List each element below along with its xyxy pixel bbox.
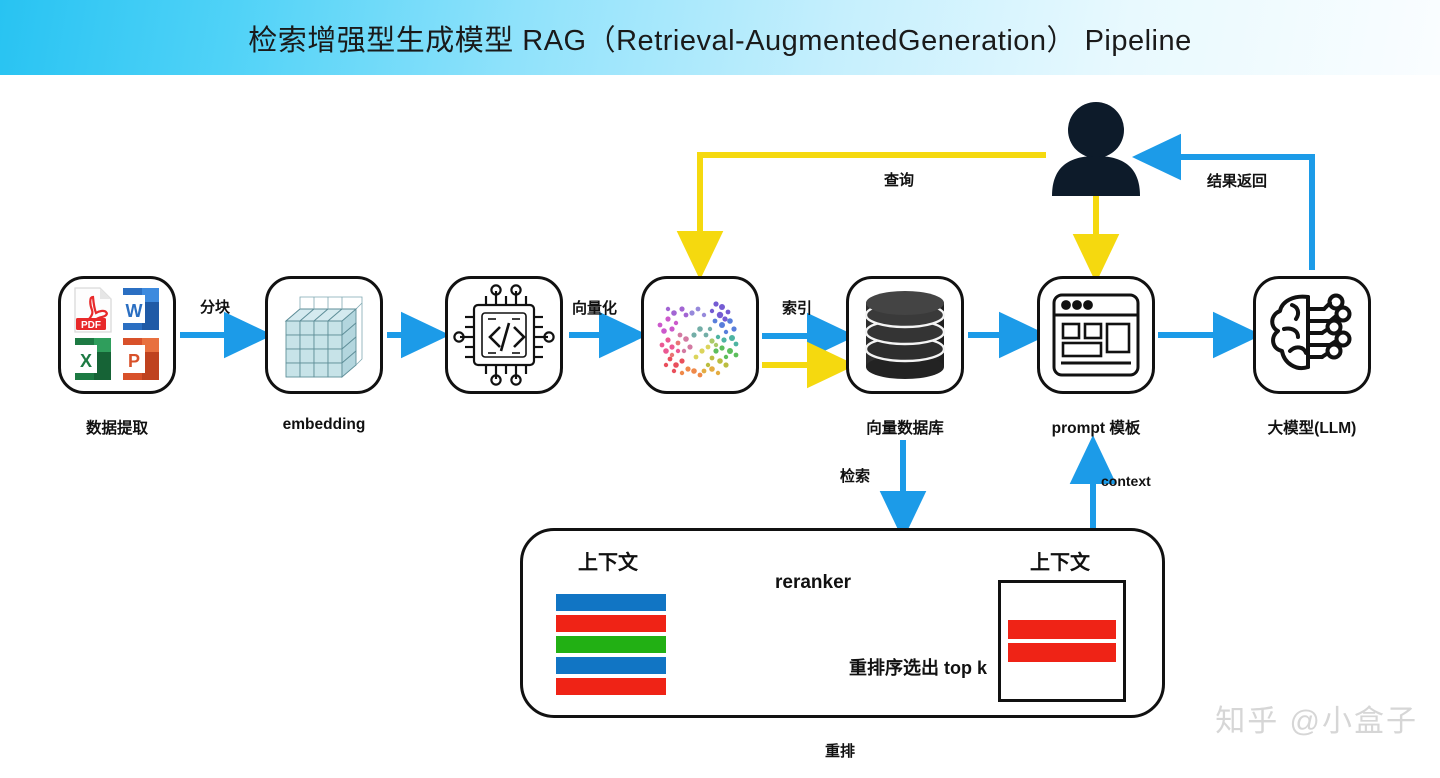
node-label-llm: 大模型(LLM) — [1216, 416, 1408, 438]
node-label-vector-db: 向量数据库 — [846, 416, 964, 438]
edge-label-chunking: 分块 — [200, 296, 230, 317]
node-embedding-space[interactable] — [641, 276, 759, 394]
database-cylinder-icon — [858, 285, 952, 385]
rerank-input-bars — [556, 594, 666, 699]
context-bar — [556, 636, 666, 653]
rerank-input-title: 上下文 — [578, 546, 638, 575]
powerpoint-file-icon: P — [119, 337, 163, 383]
cpu-chip-code-icon — [452, 283, 556, 387]
node-label-prompt-template: prompt 模板 — [1000, 416, 1192, 438]
edge-label-vectorizing: 向量化 — [572, 297, 617, 318]
node-vectorize[interactable] — [445, 276, 563, 394]
context-bar — [556, 678, 666, 695]
scatter-embedding-icon — [650, 285, 750, 385]
edge-label-indexing: 索引 — [782, 297, 812, 318]
node-llm[interactable] — [1253, 276, 1371, 394]
node-data-extraction[interactable]: PDF W X — [58, 276, 176, 394]
rerank-output-box — [998, 580, 1126, 702]
node-label-data-extraction: 数据提取 — [58, 416, 176, 438]
node-prompt-template[interactable] — [1037, 276, 1155, 394]
rerank-transform-label: 重排序选出 top k — [849, 654, 987, 680]
node-label-embedding: embedding — [265, 416, 383, 434]
context-bar — [556, 657, 666, 674]
diagram-canvas: 检索增强型生成模型 RAG（Retrieval-AugmentedGenerat… — [0, 0, 1440, 778]
edge-label-context: context — [1101, 473, 1151, 489]
context-bar — [556, 615, 666, 632]
word-file-icon: W — [119, 287, 163, 333]
watermark: 知乎 @小盒子 — [1215, 696, 1418, 740]
person-icon — [1046, 100, 1146, 196]
rerank-output-title: 上下文 — [1030, 546, 1090, 575]
node-embedding[interactable] — [265, 276, 383, 394]
context-bar — [556, 594, 666, 611]
user-node[interactable] — [1046, 100, 1146, 196]
edge-query-path — [700, 155, 1046, 262]
reranker-label: reranker — [775, 572, 851, 594]
topk-bar — [1008, 620, 1116, 639]
rerank-caption: 重排 — [780, 740, 900, 761]
topk-bar — [1008, 643, 1116, 662]
svg-text:W: W — [126, 301, 143, 321]
office-documents-icon: PDF W X — [69, 287, 165, 383]
node-vector-db[interactable] — [846, 276, 964, 394]
svg-text:X: X — [80, 351, 92, 371]
browser-wireframe-icon — [1050, 291, 1142, 379]
cube-grid-icon — [274, 285, 374, 385]
pdf-file-icon: PDF — [71, 287, 115, 333]
edge-label-retrieval: 检索 — [840, 465, 870, 486]
edge-label-query: 查询 — [884, 169, 914, 190]
svg-text:P: P — [128, 351, 140, 371]
svg-text:PDF: PDF — [81, 320, 101, 331]
excel-file-icon: X — [71, 337, 115, 383]
edge-label-result-return: 结果返回 — [1207, 170, 1267, 191]
brain-circuit-icon — [1264, 289, 1360, 381]
